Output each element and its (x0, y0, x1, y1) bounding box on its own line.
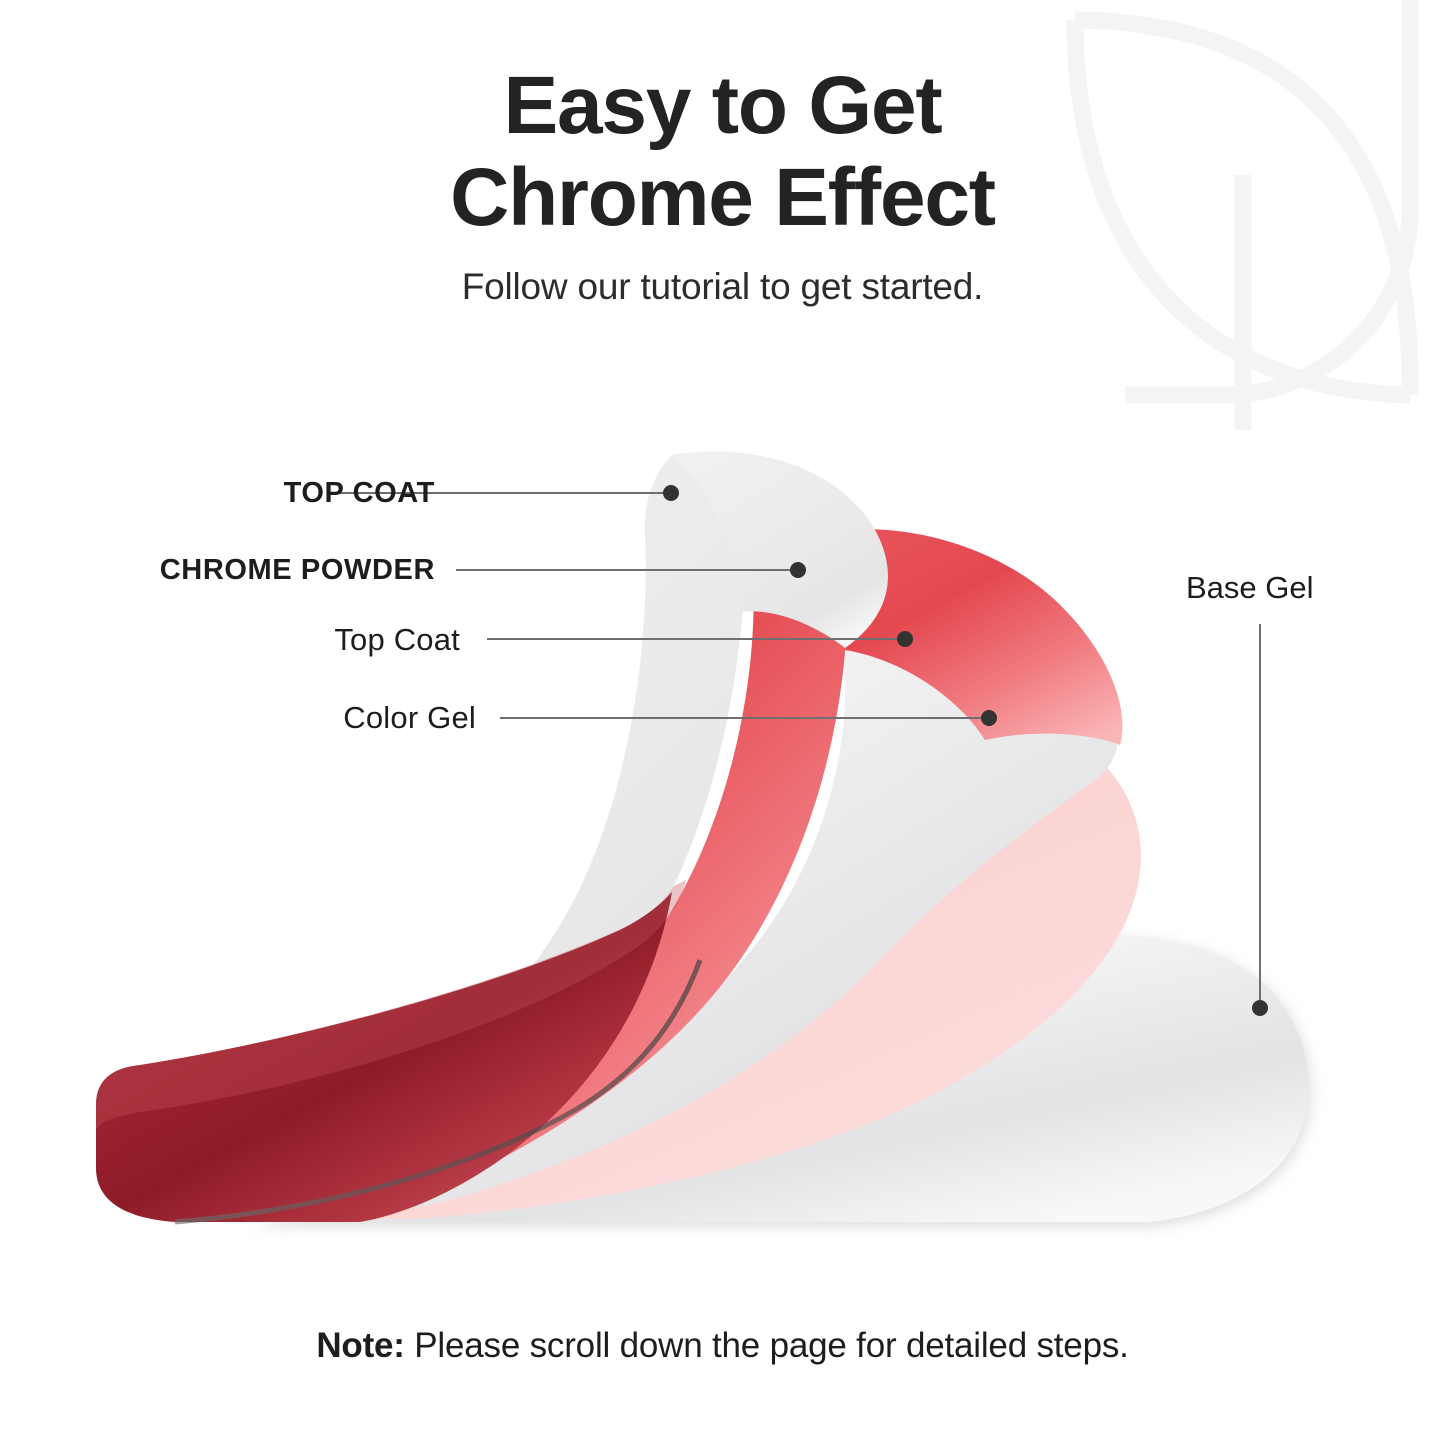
footer-note: Note: Please scroll down the page for de… (0, 1326, 1445, 1366)
nail-layers-illustration (0, 0, 1445, 1445)
leader-dot-chrome-powder (790, 562, 806, 578)
leader-dot-color-gel (981, 710, 997, 726)
label-base-gel: Base Gel (1186, 570, 1314, 606)
label-top-coat: Top Coat (334, 622, 460, 658)
label-top-coat-chrome: TOP COAT (284, 477, 435, 510)
label-color-gel: Color Gel (343, 700, 476, 736)
note-text: Please scroll down the page for detailed… (405, 1326, 1129, 1365)
label-chrome-powder: CHROME POWDER (160, 554, 435, 587)
leader-dot-top-coat (897, 631, 913, 647)
leader-dot-base-gel (1252, 1000, 1268, 1016)
note-prefix: Note: (316, 1326, 404, 1365)
leader-dot-top-coat-chrome (663, 485, 679, 501)
page-root: Easy to Get Chrome Effect Follow our tut… (0, 0, 1445, 1445)
